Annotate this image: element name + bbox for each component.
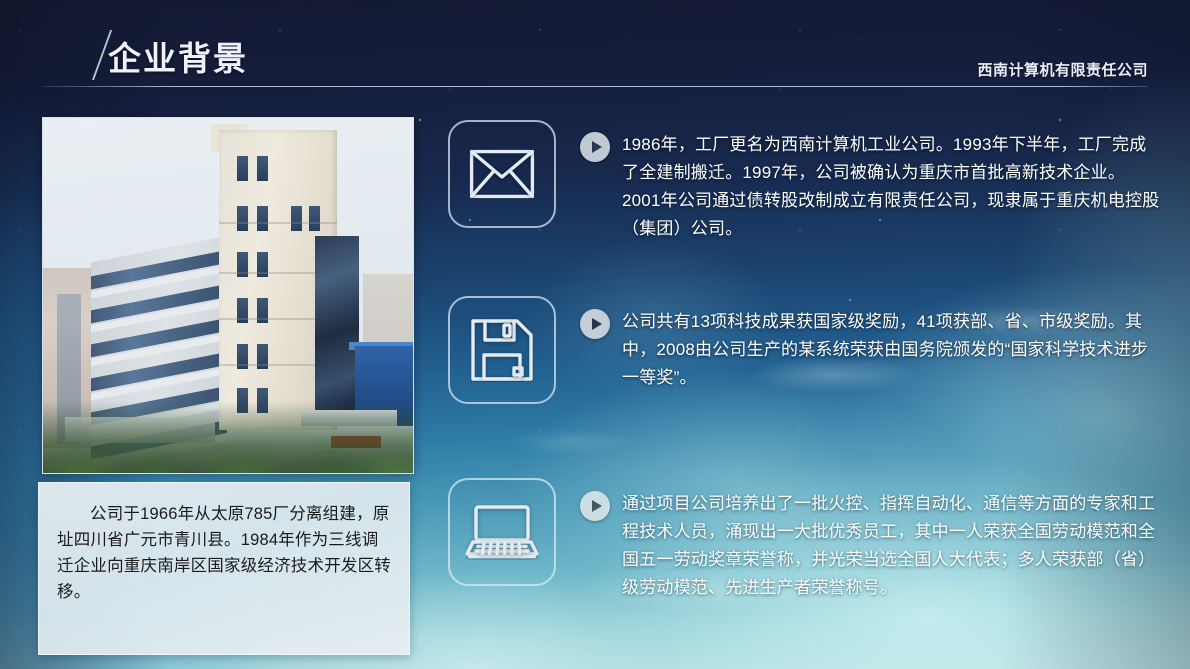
play-triangle: [592, 500, 602, 512]
photo-caption-box: 公司于1966年从太原785厂分离组建，原址四川省广元市青川县。1984年作为三…: [38, 482, 410, 655]
slide-canvas: 企业背景 西南计算机有限责任公司: [0, 0, 1190, 669]
photo-window: [237, 206, 248, 231]
photo-caption-text: 公司于1966年从太原785厂分离组建，原址四川省广元市青川县。1984年作为三…: [57, 501, 393, 605]
bullet-row: 通过项目公司培养出了一批火控、指挥自动化、通信等方面的专家和工程技术人员，涌现出…: [580, 490, 1160, 602]
office-building-photo: [42, 117, 414, 474]
slide-header: 企业背景 西南计算机有限责任公司: [0, 0, 1190, 90]
icon-tile-envelope: [448, 120, 556, 228]
header-divider-rule: [42, 86, 1148, 87]
play-circle-icon[interactable]: [580, 309, 610, 339]
icon-tile-floppy-disk: [448, 296, 556, 404]
bullet-row: 公司共有13项科技成果获国家级奖励，41项获部、省、市级奖励。其中，2008由公…: [580, 308, 1160, 392]
photo-window: [237, 156, 248, 181]
photo-window: [291, 206, 302, 231]
bullet-row: 1986年，工厂更名为西南计算机工业公司。1993年下半年，工厂完成了全建制搬迁…: [580, 131, 1160, 243]
bullet-text: 公司共有13项科技成果获国家级奖励，41项获部、省、市级奖励。其中，2008由公…: [622, 308, 1160, 392]
laptop-icon: [465, 504, 539, 560]
bullet-text: 通过项目公司培养出了一批火控、指挥自动化、通信等方面的专家和工程技术人员，涌现出…: [622, 490, 1160, 602]
photo-floor-line: [219, 222, 337, 224]
play-triangle: [592, 141, 602, 153]
page-title: 企业背景: [108, 32, 248, 80]
photo-window: [257, 156, 268, 181]
photo-glass-curtain-wall: [315, 236, 359, 411]
floppy-disk-icon: [470, 318, 534, 382]
icon-tile-laptop: [448, 478, 556, 586]
play-triangle: [592, 318, 602, 330]
bullet-text: 1986年，工厂更名为西南计算机工业公司。1993年下半年，工厂完成了全建制搬迁…: [622, 131, 1160, 243]
photo-window: [309, 206, 320, 231]
company-name-label: 西南计算机有限责任公司: [977, 59, 1148, 80]
photo-tree-line: [43, 401, 413, 473]
envelope-icon: [469, 149, 535, 199]
photo-window: [257, 206, 268, 231]
play-circle-icon[interactable]: [580, 491, 610, 521]
play-circle-icon[interactable]: [580, 132, 610, 162]
